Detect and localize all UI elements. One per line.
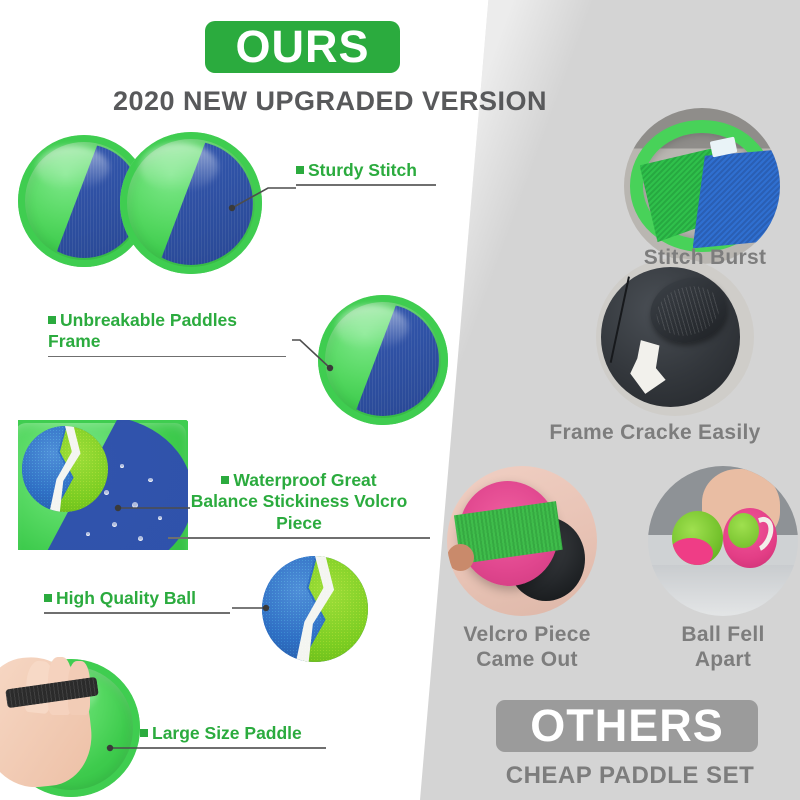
others-subtitle: CHEAP PADDLE SET	[470, 762, 790, 790]
defect-label-ball-fell-apart: Ball Fell Apart	[653, 622, 793, 672]
high-quality-ball-photo	[262, 556, 368, 662]
ours-badge: OURS	[205, 21, 400, 73]
paddle-gloss	[336, 305, 408, 349]
bullet-icon	[48, 316, 56, 324]
underline-rule	[44, 612, 230, 614]
defect-photo-stitch-burst	[624, 108, 780, 264]
ours-subtitle: 2020 NEW UPGRADED VERSION	[110, 86, 550, 117]
annotation-large-size-paddle: Large Size Paddle	[140, 723, 326, 749]
annotation-high-quality-ball: High Quality Ball	[44, 588, 230, 614]
bullet-icon	[221, 476, 229, 484]
annotation-line-1: Waterproof Great	[221, 470, 376, 490]
annotation-label: Unbreakable Paddles Frame	[48, 310, 237, 351]
infographic-stage: OURS 2020 NEW UPGRADED VERSION Sturdy St…	[0, 0, 800, 800]
defect-photo-frame-cracked	[596, 258, 754, 416]
paddle-top-right	[120, 132, 262, 274]
annotation-sturdy-stitch: Sturdy Stitch	[296, 160, 436, 186]
annotation-waterproof-velcro: Waterproof Great Balance Stickiness Volc…	[168, 470, 430, 539]
others-badge: OTHERS	[496, 700, 758, 752]
waterproof-paddle-photo	[18, 420, 188, 550]
paddle-gloss	[140, 143, 218, 191]
bullet-icon	[44, 594, 52, 602]
ours-badge-label: OURS	[235, 21, 369, 73]
annotation-line-2: Balance Stickiness Volcro Piece	[191, 491, 408, 532]
underline-rule	[140, 747, 326, 749]
defect-label-frame-cracke-easily: Frame Cracke Easily	[515, 420, 795, 445]
bullet-icon	[140, 729, 148, 737]
defect-photo-velcro-came-out	[447, 466, 597, 616]
defect-line-2: Came Out	[476, 648, 578, 671]
annotation-label: Sturdy Stitch	[308, 160, 417, 180]
underline-rule	[168, 537, 430, 539]
defect-line-1: Ball Fell	[681, 623, 764, 646]
annotation-unbreakable-frame: Unbreakable Paddles Frame	[48, 310, 286, 357]
bullet-icon	[296, 166, 304, 174]
others-badge-label: OTHERS	[530, 700, 724, 752]
defect-label-velcro-piece-came-out: Velcro Piece Came Out	[452, 622, 602, 672]
underline-rule	[48, 356, 286, 358]
underline-rule	[296, 184, 436, 186]
ball-on-paddle	[22, 426, 108, 512]
defect-line-2: Apart	[695, 648, 751, 671]
paddle-middle	[318, 295, 448, 425]
defect-line-1: Velcro Piece	[463, 623, 590, 646]
defect-photo-ball-fell-apart	[648, 466, 798, 616]
defect-label-stitch-burst: Stitch Burst	[610, 245, 800, 270]
paddle-gloss	[36, 146, 109, 191]
annotation-label: High Quality Ball	[56, 588, 196, 608]
annotation-label: Large Size Paddle	[152, 723, 302, 743]
